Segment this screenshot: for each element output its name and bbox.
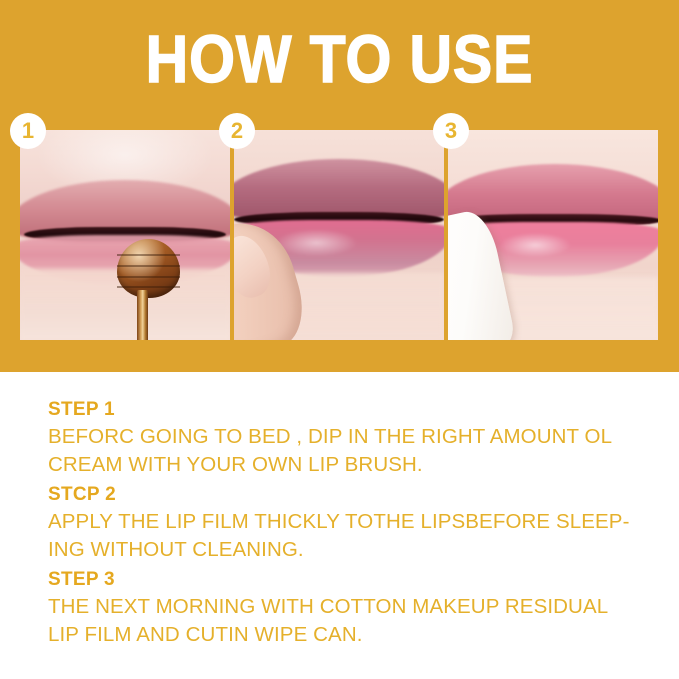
lip-brush-applicator-icon [117, 239, 180, 298]
photo-panel-cotton-pad [448, 130, 658, 340]
step-3-body: THE NEXT MORNING WITH COTTON MAKEUP RESI… [48, 593, 648, 649]
photo-panel-applicator [20, 130, 230, 340]
step-badge-3: 3 [433, 113, 469, 149]
step-2-body: APPLY THE LIP FILM THICKLY TOTHE LIPSBEF… [48, 508, 648, 564]
applicator-handle [137, 290, 149, 340]
step-badge-2: 2 [219, 113, 255, 149]
instructions-list: STEP 1 BEFORC GOING TO BED , DIP IN THE … [48, 396, 648, 651]
photo-panel-finger [234, 130, 444, 340]
instruction-step-2: STCP 2 APPLY THE LIP FILM THICKLY TOTHE … [48, 481, 648, 564]
step-2-heading: STCP 2 [48, 481, 648, 508]
page-title: HOW TO USE [41, 26, 639, 94]
photo-strip [20, 130, 658, 340]
instruction-step-3: STEP 3 THE NEXT MORNING WITH COTTON MAKE… [48, 566, 648, 649]
step-badge-1: 1 [10, 113, 46, 149]
how-to-use-infographic: HOW TO USE [0, 0, 679, 679]
step-3-heading: STEP 3 [48, 566, 648, 593]
step-1-heading: STEP 1 [48, 396, 648, 423]
instruction-step-1: STEP 1 BEFORC GOING TO BED , DIP IN THE … [48, 396, 648, 479]
step-1-body: BEFORC GOING TO BED , DIP IN THE RIGHT A… [48, 423, 648, 479]
